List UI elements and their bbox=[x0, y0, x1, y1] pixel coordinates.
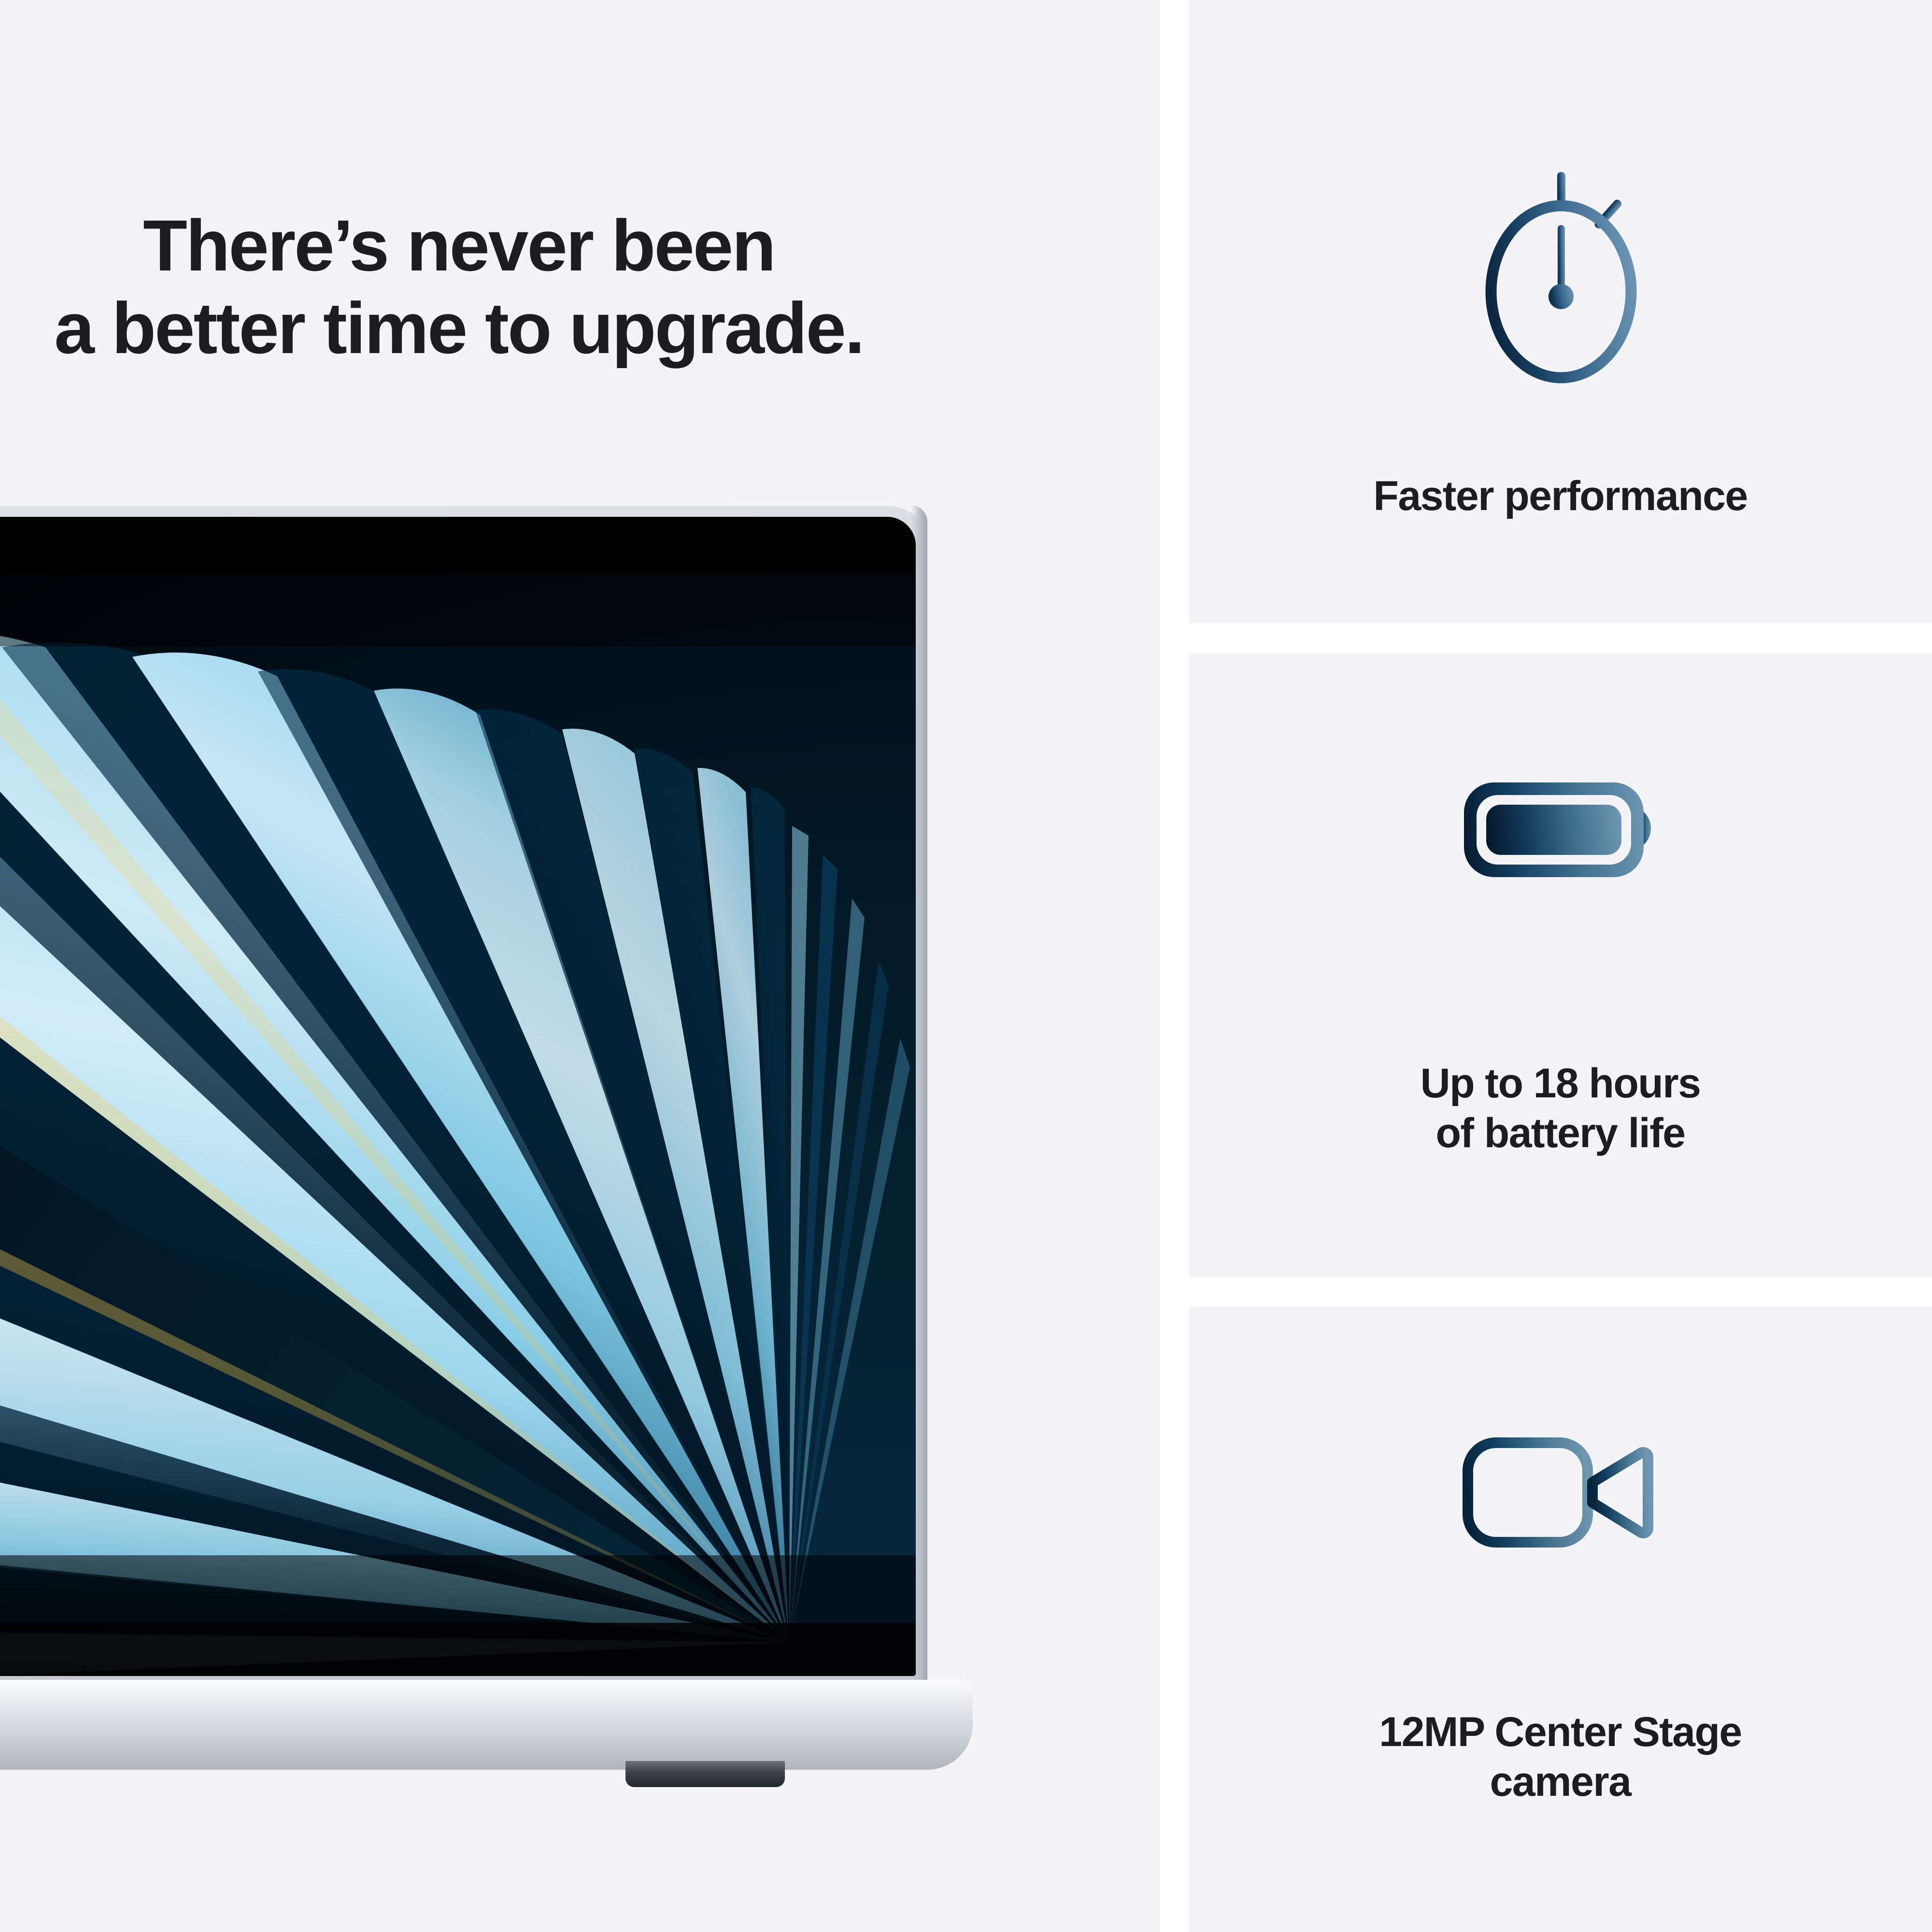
video-camera-icon bbox=[1189, 1418, 1932, 1563]
headline-line-1: There’s never been bbox=[143, 205, 775, 286]
product-feature-page: There’s never been a better time to upgr… bbox=[0, 0, 1932, 1932]
caption-line-2: of battery life bbox=[1436, 1110, 1685, 1156]
feature-card-center-stage-camera[interactable]: 12MP Center Stage camera bbox=[1189, 1307, 1932, 1932]
caption-line-1: Faster performance bbox=[1373, 473, 1747, 519]
feature-caption: Faster performance bbox=[1189, 471, 1932, 521]
display-notch bbox=[0, 517, 176, 574]
feature-caption: 12MP Center Stage camera bbox=[1189, 1707, 1932, 1807]
feature-card-faster-performance[interactable]: Faster performance bbox=[1189, 0, 1932, 623]
stopwatch-icon bbox=[1189, 162, 1932, 384]
laptop-base bbox=[0, 1680, 973, 1770]
headline-line-2: a better time to upgrade. bbox=[0, 287, 918, 369]
feature-card-battery-life[interactable]: Up to 18 hours of battery life bbox=[1189, 653, 1932, 1278]
hero-panel: There’s never been a better time to upgr… bbox=[0, 0, 1160, 1932]
feature-card-column: Faster performance bbox=[1189, 0, 1932, 1932]
feature-caption: Up to 18 hours of battery life bbox=[1189, 1059, 1932, 1158]
laptop-foot bbox=[625, 1761, 785, 1787]
battery-icon bbox=[1189, 754, 1932, 899]
macbook-product-image bbox=[0, 505, 927, 1771]
screen-wallpaper bbox=[0, 517, 916, 1676]
laptop-screen bbox=[0, 517, 916, 1676]
caption-line-2: camera bbox=[1490, 1759, 1631, 1805]
caption-line-1: 12MP Center Stage bbox=[1379, 1709, 1741, 1755]
page-headline: There’s never been a better time to upgr… bbox=[0, 204, 918, 369]
caption-line-1: Up to 18 hours bbox=[1421, 1060, 1701, 1107]
